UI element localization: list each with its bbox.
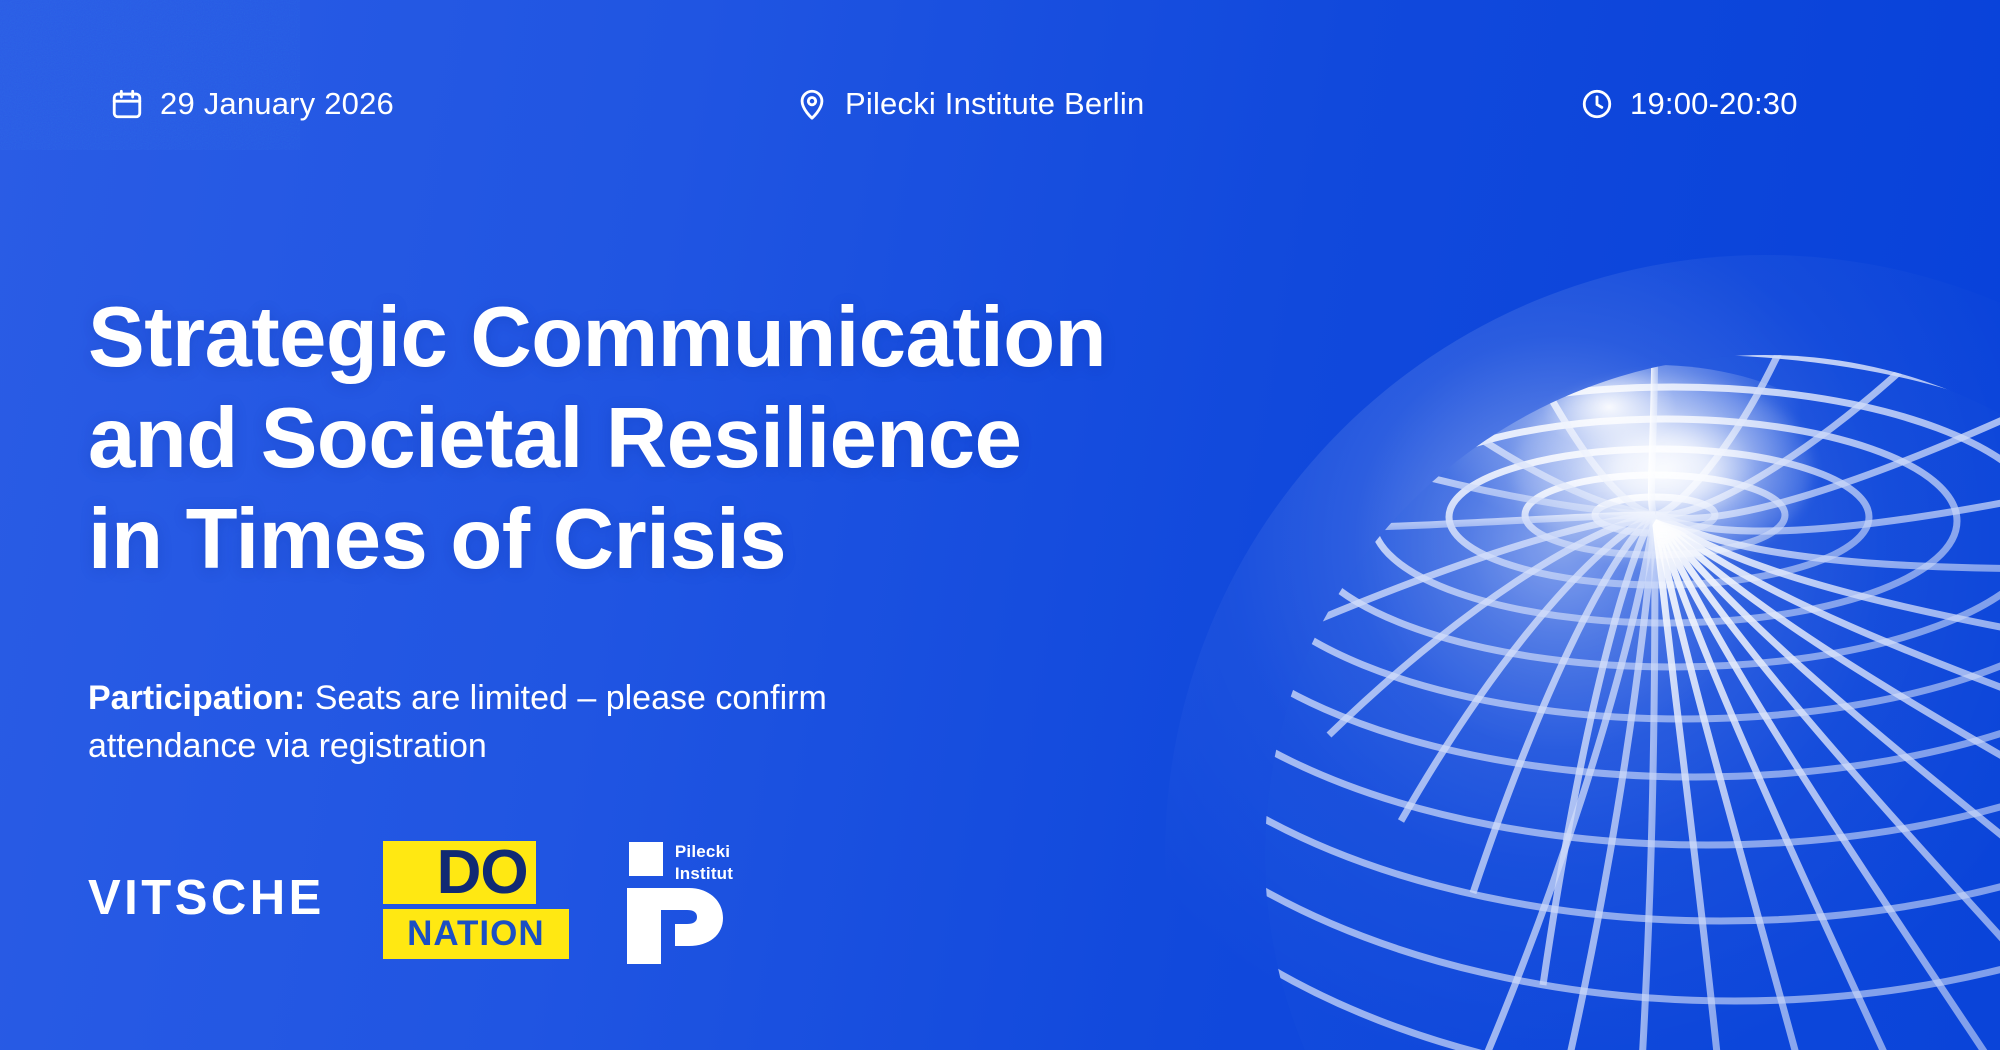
- event-date-text: 29 January 2026: [160, 86, 394, 122]
- event-date: 29 January 2026: [110, 86, 394, 122]
- logo-udo-letter-u: U: [383, 841, 437, 904]
- event-location-text: Pilecki Institute Berlin: [845, 86, 1144, 122]
- logo-udo-letters-do: DO: [437, 841, 536, 904]
- pilecki-square-mark: [629, 842, 663, 876]
- map-pin-icon: [795, 87, 829, 121]
- event-location: Pilecki Institute Berlin: [795, 86, 1144, 122]
- logo-vitsche-text: VITSCHE: [88, 871, 325, 925]
- calendar-icon: [110, 87, 144, 121]
- participation-note: Participation: Seats are limited – pleas…: [88, 674, 968, 771]
- event-title-line-1: Strategic Communication: [88, 295, 1488, 380]
- pilecki-wordmark-line-1: Pilecki: [675, 841, 733, 863]
- globe-pole-glow: [1513, 375, 1813, 565]
- pilecki-p-glyph-icon: [627, 888, 723, 964]
- pilecki-wordmark-line-2: Institut: [675, 863, 733, 885]
- logo-udo-nation[interactable]: U DO NATION: [383, 841, 569, 959]
- logo-udo-nation-bar: NATION: [383, 909, 569, 959]
- partner-logos: VITSCHE U DO NATION Pilecki Institut: [88, 820, 767, 980]
- clock-icon: [1580, 87, 1614, 121]
- event-title-line-2: and Societal Resilience: [88, 396, 1488, 481]
- pilecki-wordmark: Pilecki Institut: [675, 841, 733, 885]
- event-title: Strategic Communication and Societal Res…: [88, 295, 1488, 598]
- logo-udo-top-row: U DO: [383, 841, 569, 904]
- participation-label: Participation:: [88, 679, 305, 717]
- event-poster: 29 January 2026 Pilecki Institute Berlin…: [0, 0, 2000, 1050]
- logo-pilecki-institut[interactable]: Pilecki Institut: [627, 836, 767, 964]
- logo-vitsche[interactable]: VITSCHE: [88, 874, 325, 927]
- event-time-text: 19:00-20:30: [1630, 86, 1798, 122]
- event-meta-row: 29 January 2026 Pilecki Institute Berlin…: [0, 86, 2000, 134]
- event-title-line-3: in Times of Crisis: [88, 497, 1488, 582]
- event-time: 19:00-20:30: [1580, 86, 1798, 122]
